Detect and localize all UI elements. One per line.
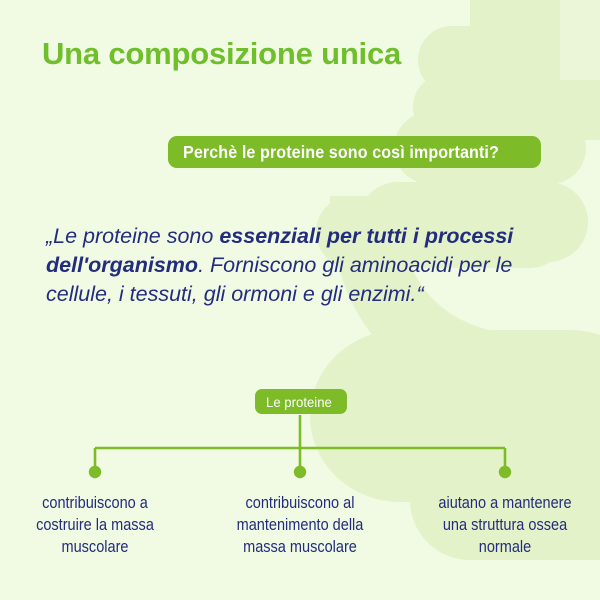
quote-segment-1: Le proteine sono — [53, 224, 219, 248]
quote-text: „Le proteine sono essenziali per tutti i… — [46, 222, 516, 309]
quote-close-mark: “ — [416, 282, 423, 306]
connector-dot-left — [89, 466, 101, 478]
question-badge: Perchè le proteine sono così importanti? — [168, 136, 541, 168]
diagram-leaf-label-0: contribuiscono a costruire la massa musc… — [16, 492, 174, 558]
diagram-leaf-label-2: aiutano a mantenere una struttura ossea … — [426, 492, 584, 558]
infographic-poster: Una composizione unica Perchè le protein… — [0, 0, 600, 600]
diagram-root-label: Le proteine — [266, 394, 332, 410]
diagram-leaf-label-1: contribuiscono al mantenimento della mas… — [221, 492, 379, 558]
diagram-root-badge: Le proteine — [255, 389, 347, 414]
page-title: Una composizione unica — [42, 36, 401, 72]
connector-dot-right — [499, 466, 511, 478]
question-badge-label: Perchè le proteine sono così importanti? — [183, 142, 499, 163]
connector-dot-center — [294, 466, 306, 478]
